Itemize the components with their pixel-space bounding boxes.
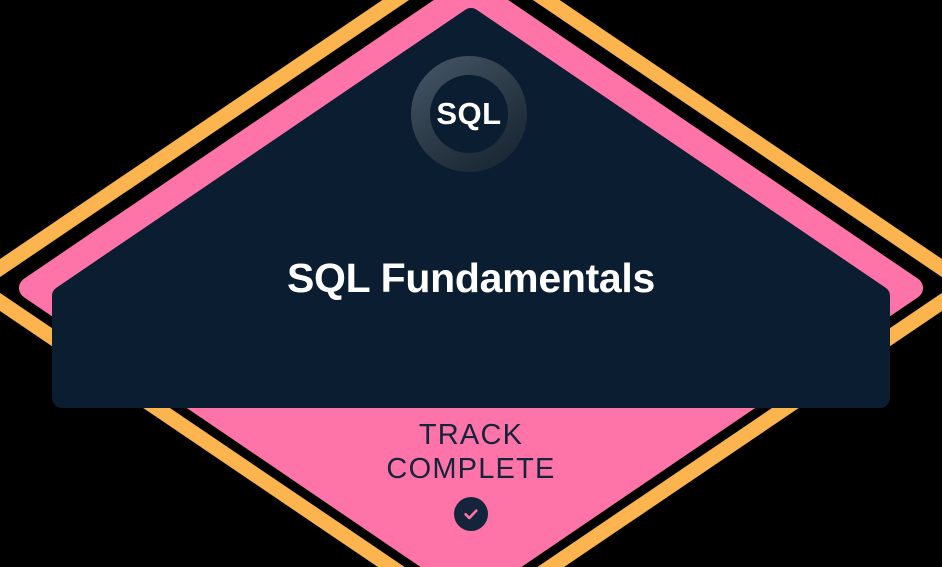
badge-shape-layers [0, 0, 942, 567]
inner-navy-panel [62, 18, 880, 398]
track-completion-badge: SQL SQL Fundamentals TRACK COMPLETE [0, 0, 942, 567]
